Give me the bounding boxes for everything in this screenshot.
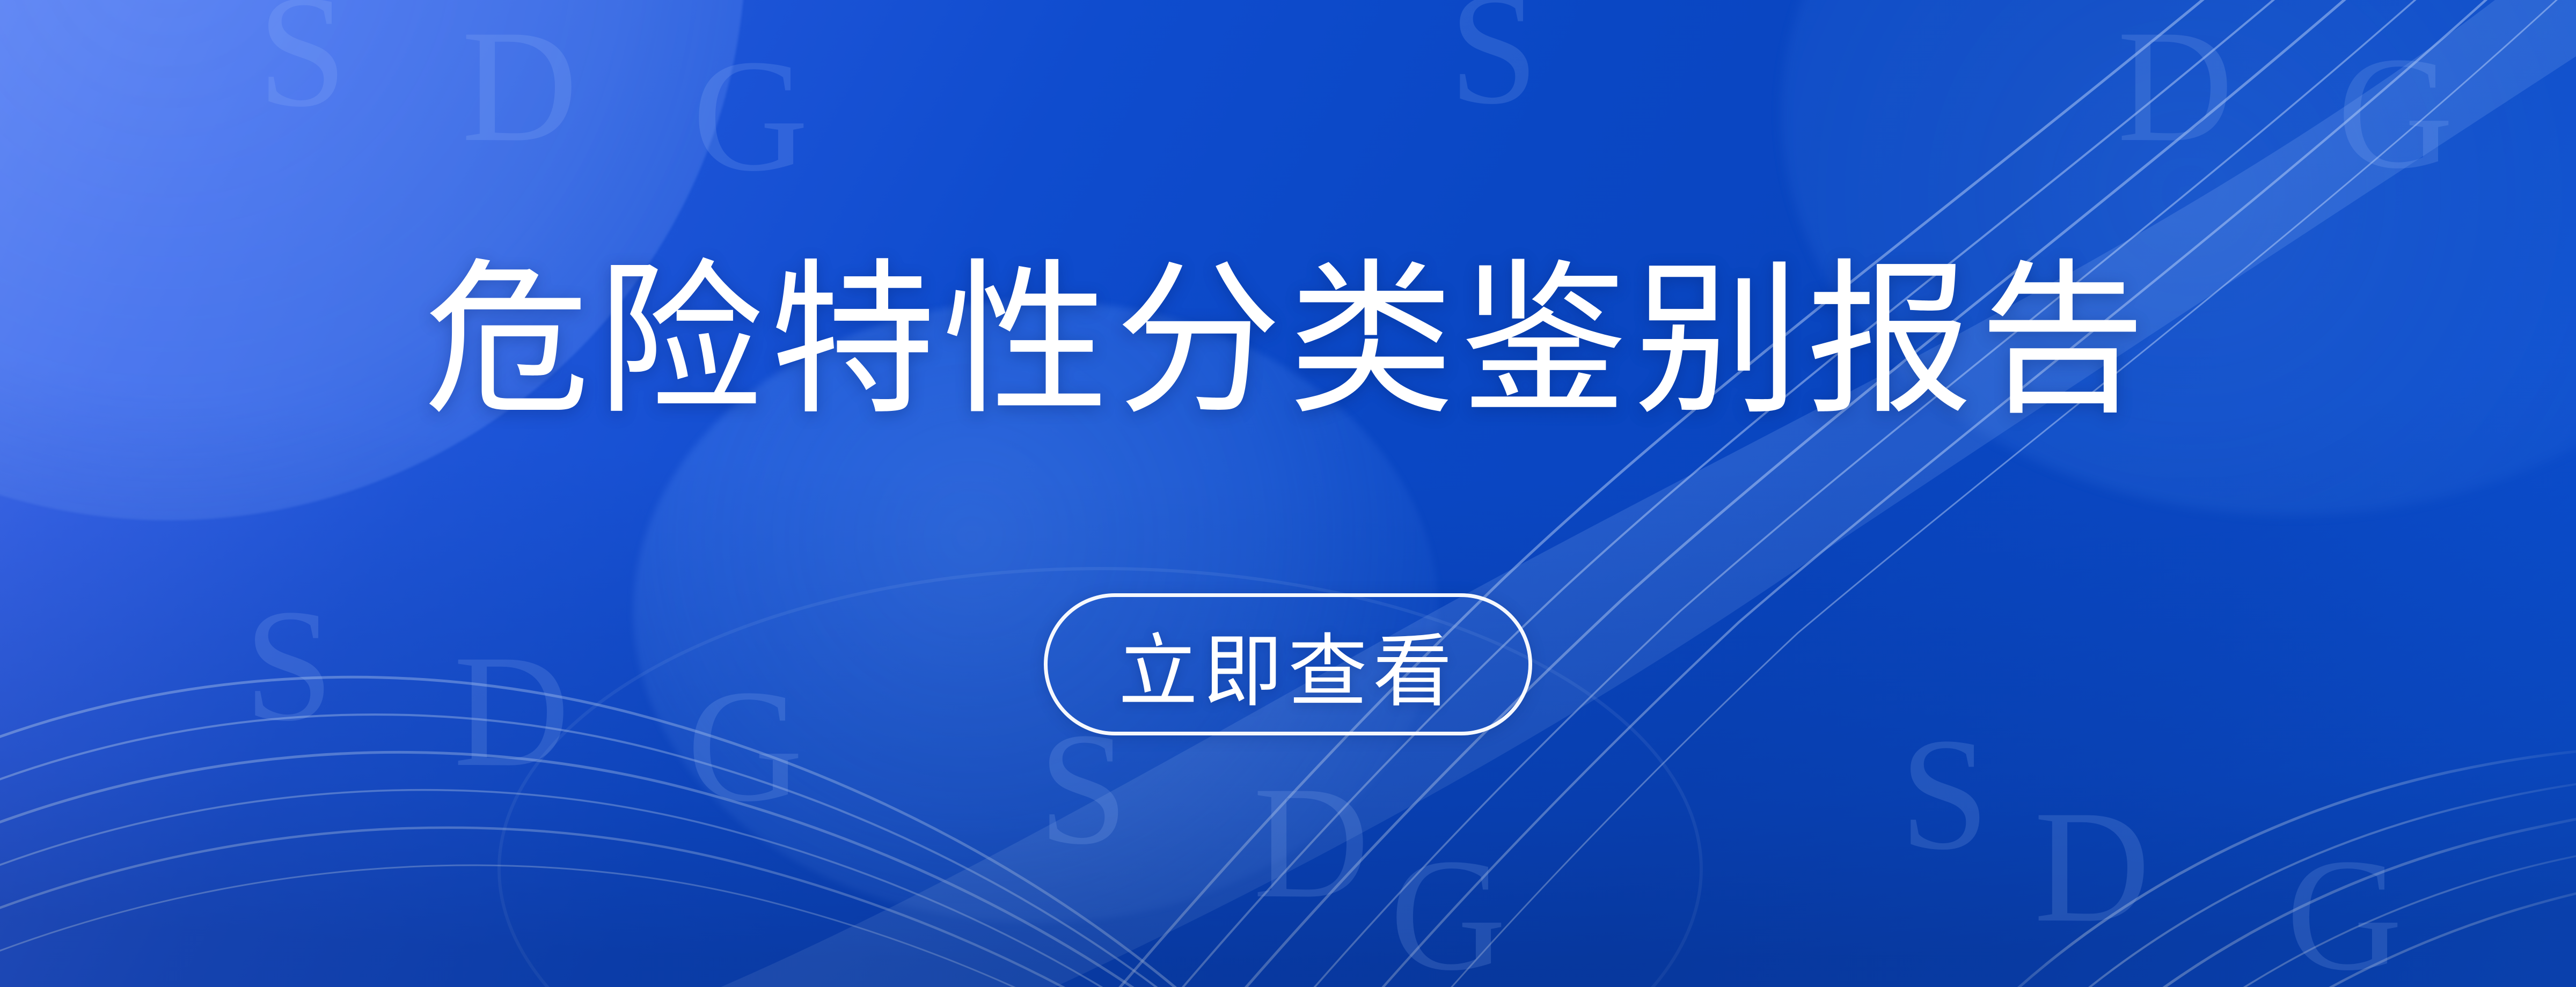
banner-title: 危险特性分类鉴别报告 bbox=[424, 251, 2152, 431]
view-now-button-label: 立即查看 bbox=[1118, 607, 1458, 722]
banner-content: 危险特性分类鉴别报告 立即查看 bbox=[0, 0, 2576, 987]
promo-banner: SDGSDGSDGSDGSDG 危险特性分类鉴别报告 立即查看 bbox=[0, 0, 2576, 987]
view-now-button[interactable]: 立即查看 bbox=[1044, 593, 1532, 735]
